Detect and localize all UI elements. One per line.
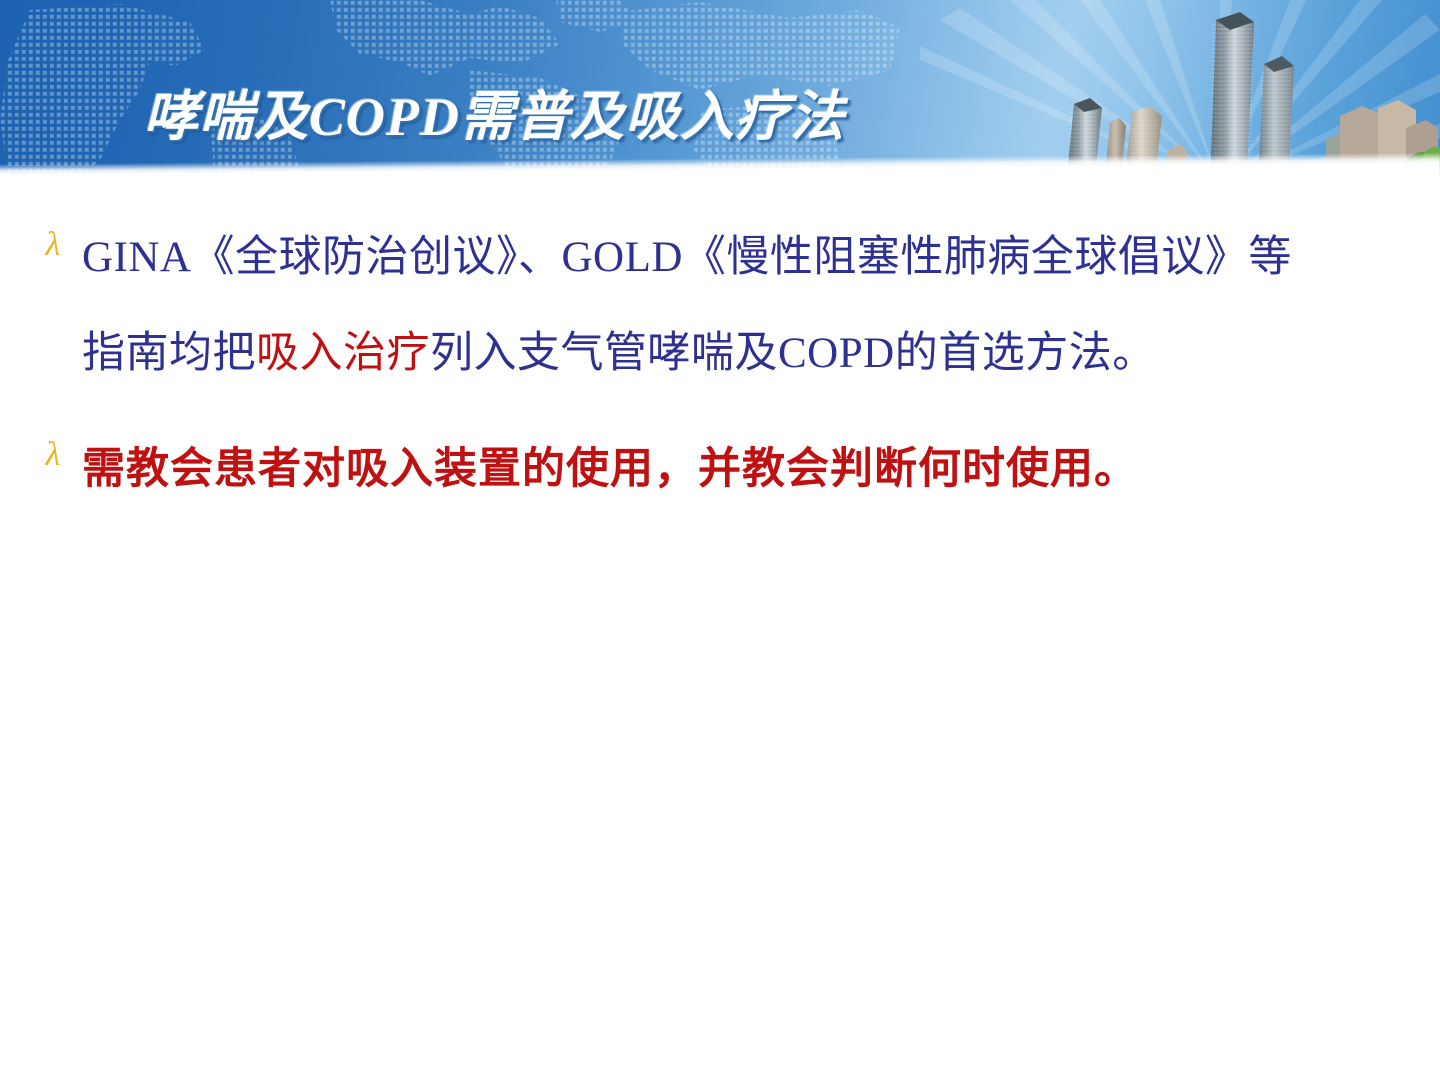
list-item: λ GINA《全球防治创议》、GOLD《慢性阻塞性肺病全球倡议》等指南均把吸入治…: [24, 210, 1440, 402]
banner-bottom-edge: [0, 176, 1440, 186]
bullet-segment-plain: 需教会患者对吸入装置的使用，并教会判断何时使用。: [82, 446, 1138, 493]
bullet-text-1: GINA《全球防治创议》、GOLD《慢性阻塞性肺病全球倡议》等指南均把吸入治疗列…: [82, 210, 1388, 402]
lambda-bullet-icon: λ: [24, 210, 82, 262]
page-title: 哮喘及COPD需普及吸入疗法: [144, 72, 845, 151]
list-item: λ 需教会患者对吸入装置的使用，并教会判断何时使用。: [24, 422, 1440, 518]
bullet-segment-highlight: 吸入治疗: [256, 330, 430, 377]
lambda-bullet-icon: λ: [24, 422, 82, 472]
presentation-slide: 哮喘及COPD需普及吸入疗法 λ GINA《全球防治创议》、GOLD《慢性阻塞性…: [0, 0, 1440, 1080]
bullet-text-2: 需教会患者对吸入装置的使用，并教会判断何时使用。: [82, 422, 1440, 518]
bullet-segment-tail: 列入支气管哮喘及COPD的首选方法。: [430, 330, 1156, 377]
slide-body: λ GINA《全球防治创议》、GOLD《慢性阻塞性肺病全球倡议》等指南均把吸入治…: [0, 210, 1440, 1080]
